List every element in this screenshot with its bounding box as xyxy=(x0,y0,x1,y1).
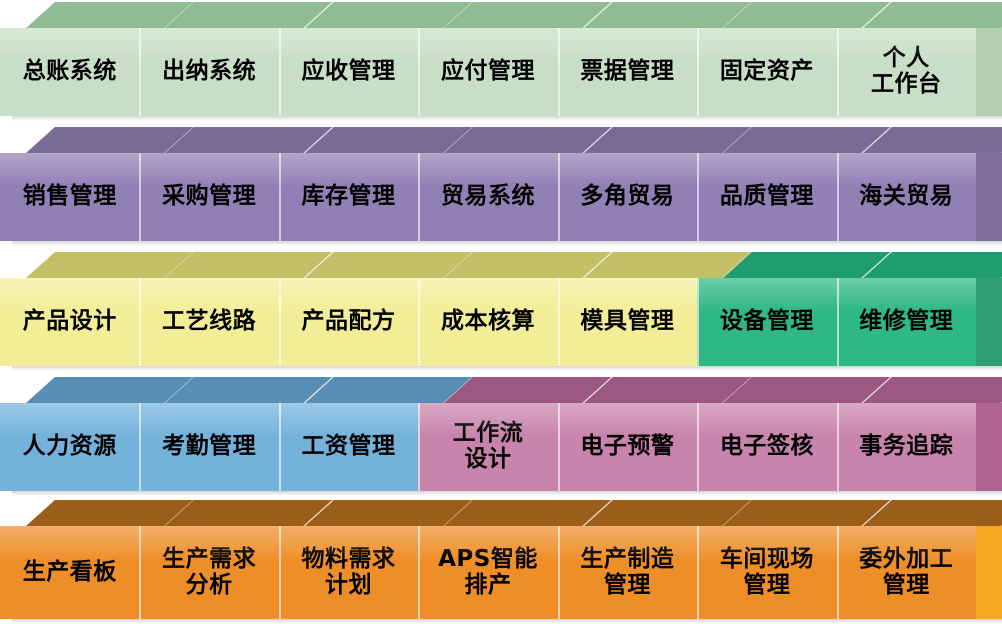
module-label: 生产需求 分析 xyxy=(162,547,256,599)
row-side-face xyxy=(976,526,1002,619)
box-top-face xyxy=(584,2,752,28)
box-divider xyxy=(279,28,281,116)
module-box[interactable]: 票据管理 xyxy=(558,28,697,116)
box-highlight xyxy=(279,403,418,436)
box-highlight xyxy=(279,153,418,186)
box-divider xyxy=(697,153,699,241)
module-label: 事务追踪 xyxy=(859,434,953,460)
module-label: 维修管理 xyxy=(859,309,953,335)
module-label: 出纳系统 xyxy=(162,59,256,85)
module-architecture-diagram: 总账系统出纳系统应收管理应付管理票据管理固定资产个人 工作台销售管理采购管理库存… xyxy=(0,0,1002,621)
box-top-face xyxy=(305,127,473,153)
box-highlight xyxy=(0,28,139,61)
box-divider xyxy=(139,28,141,116)
box-top-face xyxy=(723,2,891,28)
module-label: 应付管理 xyxy=(441,59,535,85)
box-highlight xyxy=(0,403,139,436)
box-top-face xyxy=(444,500,612,526)
box-top-face xyxy=(863,127,1002,153)
box-divider xyxy=(697,526,699,619)
box-top-face xyxy=(723,127,891,153)
module-box[interactable]: 车间现场 管理 xyxy=(697,526,836,619)
box-top-face xyxy=(584,127,752,153)
module-box[interactable]: 工资管理 xyxy=(279,403,418,491)
module-label: APS智能 排产 xyxy=(438,547,538,599)
box-highlight xyxy=(697,153,836,186)
box-highlight xyxy=(558,403,697,436)
box-highlight xyxy=(139,403,278,436)
row-top-face xyxy=(0,500,1002,526)
box-highlight xyxy=(279,278,418,311)
module-label: 海关贸易 xyxy=(859,184,953,210)
module-box[interactable]: 电子预警 xyxy=(558,403,697,491)
module-label: 产品配方 xyxy=(302,309,396,335)
box-divider xyxy=(418,28,420,116)
box-highlight xyxy=(418,278,557,311)
row-side-face xyxy=(976,403,1002,491)
row-front-face: 生产看板生产需求 分析物料需求 计划APS智能 排产生产制造 管理车间现场 管理… xyxy=(0,526,976,619)
box-top-face xyxy=(723,252,891,278)
box-divider xyxy=(418,278,420,366)
module-box[interactable]: 多角贸易 xyxy=(558,153,697,241)
module-row-finance: 总账系统出纳系统应收管理应付管理票据管理固定资产个人 工作台 xyxy=(0,2,1002,116)
box-highlight xyxy=(0,153,139,186)
module-label: 人力资源 xyxy=(23,434,117,460)
module-box[interactable]: 工作流 设计 xyxy=(418,403,557,491)
box-divider xyxy=(139,526,141,619)
module-row-hr-workflow: 人力资源考勤管理工资管理工作流 设计电子预警电子签核事务追踪 xyxy=(0,377,1002,491)
module-box[interactable]: 事务追踪 xyxy=(837,403,976,491)
box-highlight xyxy=(558,28,697,61)
module-box[interactable]: 个人 工作台 xyxy=(837,28,976,116)
module-label: 销售管理 xyxy=(23,184,117,210)
module-label: 模具管理 xyxy=(580,309,674,335)
box-top-face xyxy=(26,127,194,153)
module-label: 设备管理 xyxy=(720,309,814,335)
row-top-face xyxy=(0,2,1002,28)
box-highlight xyxy=(697,278,836,311)
module-label: 个人 工作台 xyxy=(871,46,942,98)
module-box[interactable]: 采购管理 xyxy=(139,153,278,241)
box-highlight xyxy=(697,28,836,61)
module-box[interactable]: 贸易系统 xyxy=(418,153,557,241)
module-box[interactable]: 固定资产 xyxy=(697,28,836,116)
box-divider xyxy=(837,526,839,619)
box-top-face xyxy=(444,377,612,403)
module-box[interactable]: 成本核算 xyxy=(418,278,557,366)
module-label: 总账系统 xyxy=(23,59,117,85)
module-box[interactable]: 模具管理 xyxy=(558,278,697,366)
module-box[interactable]: 电子签核 xyxy=(697,403,836,491)
box-highlight xyxy=(418,28,557,61)
box-divider xyxy=(279,153,281,241)
box-divider xyxy=(279,278,281,366)
module-label: 考勤管理 xyxy=(162,434,256,460)
box-divider xyxy=(139,278,141,366)
module-box[interactable]: 海关贸易 xyxy=(837,153,976,241)
row-front-face: 总账系统出纳系统应收管理应付管理票据管理固定资产个人 工作台 xyxy=(0,28,976,116)
box-top-face xyxy=(863,377,1002,403)
box-highlight xyxy=(697,403,836,436)
box-highlight xyxy=(139,28,278,61)
row-top-face xyxy=(0,127,1002,153)
box-highlight xyxy=(558,153,697,186)
box-top-face xyxy=(26,377,194,403)
box-highlight xyxy=(0,526,139,561)
module-box[interactable]: 产品配方 xyxy=(279,278,418,366)
module-box[interactable]: 应付管理 xyxy=(418,28,557,116)
module-box[interactable]: APS智能 排产 xyxy=(418,526,557,619)
box-top-face xyxy=(723,500,891,526)
box-highlight xyxy=(139,153,278,186)
module-box[interactable]: 应收管理 xyxy=(279,28,418,116)
box-divider xyxy=(418,403,420,491)
module-box[interactable]: 人力资源 xyxy=(0,403,139,491)
box-top-face xyxy=(305,252,473,278)
module-box[interactable]: 物料需求 计划 xyxy=(279,526,418,619)
row-shadow xyxy=(12,491,1002,496)
box-top-face xyxy=(26,2,194,28)
box-highlight xyxy=(837,278,976,311)
module-label: 贸易系统 xyxy=(441,184,535,210)
module-label: 工资管理 xyxy=(302,434,396,460)
module-box[interactable]: 生产看板 xyxy=(0,526,139,619)
box-highlight xyxy=(279,28,418,61)
module-label: 固定资产 xyxy=(720,59,814,85)
box-divider xyxy=(697,403,699,491)
module-box[interactable]: 出纳系统 xyxy=(139,28,278,116)
box-top-face xyxy=(584,252,752,278)
row-side-face xyxy=(976,28,1002,116)
module-box[interactable]: 工艺线路 xyxy=(139,278,278,366)
row-shadow xyxy=(12,241,1002,246)
box-divider xyxy=(279,403,281,491)
module-label: 采购管理 xyxy=(162,184,256,210)
row-front-face: 产品设计工艺线路产品配方成本核算模具管理设备管理维修管理 xyxy=(0,278,976,366)
box-top-face xyxy=(165,500,333,526)
module-row-supply-chain: 销售管理采购管理库存管理贸易系统多角贸易品质管理海关贸易 xyxy=(0,127,1002,241)
box-divider xyxy=(139,153,141,241)
module-box[interactable]: 库存管理 xyxy=(279,153,418,241)
box-top-face xyxy=(165,127,333,153)
box-top-face xyxy=(444,252,612,278)
module-box[interactable]: 考勤管理 xyxy=(139,403,278,491)
module-label: 工艺线路 xyxy=(162,309,256,335)
box-highlight xyxy=(418,153,557,186)
module-label: 成本核算 xyxy=(441,309,535,335)
module-label: 生产制造 管理 xyxy=(580,547,674,599)
module-box[interactable]: 产品设计 xyxy=(0,278,139,366)
module-label: 库存管理 xyxy=(302,184,396,210)
box-top-face xyxy=(584,377,752,403)
box-top-face xyxy=(584,500,752,526)
box-top-face xyxy=(165,2,333,28)
module-box[interactable]: 生产需求 分析 xyxy=(139,526,278,619)
box-divider xyxy=(139,403,141,491)
row-top-face xyxy=(0,377,1002,403)
box-top-face xyxy=(305,2,473,28)
module-label: 委外加工 管理 xyxy=(859,547,953,599)
module-box[interactable]: 维修管理 xyxy=(837,278,976,366)
box-divider xyxy=(558,403,560,491)
box-divider xyxy=(418,526,420,619)
row-shadow xyxy=(12,619,1002,624)
box-top-face xyxy=(165,252,333,278)
box-divider xyxy=(697,278,699,366)
module-box[interactable]: 总账系统 xyxy=(0,28,139,116)
module-label: 车间现场 管理 xyxy=(720,547,814,599)
box-top-face xyxy=(26,252,194,278)
box-top-face xyxy=(863,252,1002,278)
box-highlight xyxy=(837,403,976,436)
module-label: 多角贸易 xyxy=(580,184,674,210)
box-top-face xyxy=(863,500,1002,526)
module-label: 票据管理 xyxy=(580,59,674,85)
module-row-production: 生产看板生产需求 分析物料需求 计划APS智能 排产生产制造 管理车间现场 管理… xyxy=(0,500,1002,619)
box-divider xyxy=(837,28,839,116)
box-divider xyxy=(837,403,839,491)
box-top-face xyxy=(444,127,612,153)
module-label: 电子预警 xyxy=(580,434,674,460)
module-box[interactable]: 设备管理 xyxy=(697,278,836,366)
box-highlight xyxy=(0,278,139,311)
box-divider xyxy=(837,278,839,366)
row-front-face: 销售管理采购管理库存管理贸易系统多角贸易品质管理海关贸易 xyxy=(0,153,976,241)
box-top-face xyxy=(305,377,473,403)
box-divider xyxy=(279,526,281,619)
box-top-face xyxy=(863,2,1002,28)
module-label: 产品设计 xyxy=(23,309,117,335)
module-label: 电子签核 xyxy=(720,434,814,460)
box-divider xyxy=(558,278,560,366)
module-box[interactable]: 销售管理 xyxy=(0,153,139,241)
box-highlight xyxy=(558,278,697,311)
box-highlight xyxy=(139,278,278,311)
row-side-face xyxy=(976,153,1002,241)
row-top-face xyxy=(0,252,1002,278)
module-box[interactable]: 委外加工 管理 xyxy=(837,526,976,619)
row-shadow xyxy=(12,116,1002,121)
module-box[interactable]: 生产制造 管理 xyxy=(558,526,697,619)
module-box[interactable]: 品质管理 xyxy=(697,153,836,241)
box-top-face xyxy=(444,2,612,28)
box-top-face xyxy=(723,377,891,403)
module-label: 生产看板 xyxy=(23,560,117,586)
module-label: 工作流 设计 xyxy=(453,421,524,473)
box-divider xyxy=(697,28,699,116)
box-divider xyxy=(418,153,420,241)
box-highlight xyxy=(837,153,976,186)
box-top-face xyxy=(165,377,333,403)
row-shadow xyxy=(12,366,1002,371)
box-divider xyxy=(558,526,560,619)
box-divider xyxy=(558,153,560,241)
module-label: 应收管理 xyxy=(302,59,396,85)
module-row-design-equipment: 产品设计工艺线路产品配方成本核算模具管理设备管理维修管理 xyxy=(0,252,1002,366)
box-divider xyxy=(837,153,839,241)
box-divider xyxy=(558,28,560,116)
box-top-face xyxy=(305,500,473,526)
module-label: 物料需求 计划 xyxy=(302,547,396,599)
row-front-face: 人力资源考勤管理工资管理工作流 设计电子预警电子签核事务追踪 xyxy=(0,403,976,491)
row-side-face xyxy=(976,278,1002,366)
box-top-face xyxy=(26,500,194,526)
module-label: 品质管理 xyxy=(720,184,814,210)
